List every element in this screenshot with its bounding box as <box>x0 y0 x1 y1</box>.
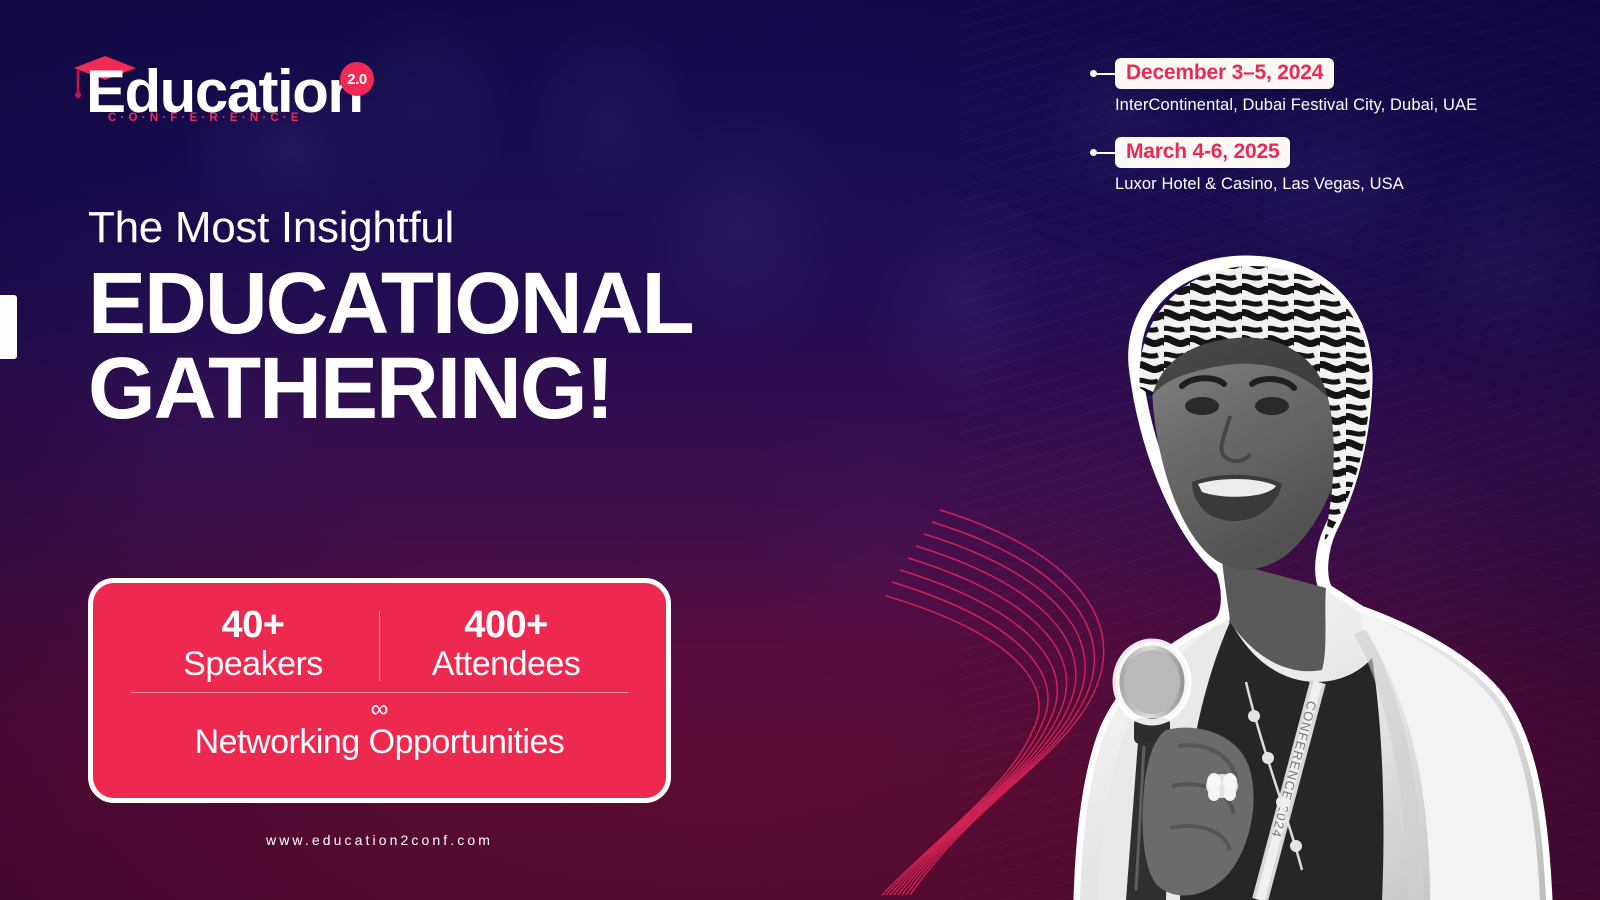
headline-line-1: EDUCATIONAL <box>88 261 693 346</box>
conference-banner: Education 2.0 C·O·N·F·E·R·E·N·C·E Decemb… <box>0 0 1600 900</box>
connector-line <box>1097 73 1115 75</box>
headline-line-2: GATHERING! <box>88 346 693 431</box>
bullet-dot-icon <box>1090 70 1097 77</box>
stats-top-row: 40+ Speakers 400+ Attendees <box>127 605 632 683</box>
headline-block: The Most Insightful EDUCATIONAL GATHERIN… <box>88 205 693 432</box>
left-accent-bar <box>0 295 17 359</box>
stats-horizontal-divider <box>131 692 628 693</box>
brand-logo[interactable]: Education 2.0 C·O·N·F·E·R·E·N·C·E <box>72 36 372 132</box>
stat-speakers: 40+ Speakers <box>127 605 379 683</box>
stat-speakers-label: Speakers <box>127 646 379 683</box>
website-url[interactable]: www.education2conf.com <box>88 832 671 848</box>
event-date-item: December 3–5, 2024 InterContinental, Dub… <box>1090 58 1510 115</box>
stat-networking: ∞ Networking Opportunities <box>127 697 632 762</box>
bullet-dot-icon <box>1090 149 1097 156</box>
logo-version-badge: 2.0 <box>340 62 374 96</box>
ring-icon <box>1206 773 1238 801</box>
headline-main: EDUCATIONAL GATHERING! <box>88 261 693 432</box>
event-dates-list: December 3–5, 2024 InterContinental, Dub… <box>1090 58 1510 216</box>
connector-line <box>1097 152 1115 154</box>
stats-card: 40+ Speakers 400+ Attendees ∞ Networking… <box>88 578 671 803</box>
stat-attendees-number: 400+ <box>380 605 632 646</box>
stat-speakers-number: 40+ <box>127 605 379 646</box>
headline-kicker: The Most Insightful <box>88 205 693 251</box>
venue-label: InterContinental, Dubai Festival City, D… <box>1115 96 1510 115</box>
date-badge: March 4-6, 2025 <box>1115 137 1290 168</box>
infinity-icon: ∞ <box>127 697 632 722</box>
speaker-photo-cutout: CONFERENCE 2024 <box>930 230 1600 900</box>
date-badge: December 3–5, 2024 <box>1115 58 1334 89</box>
event-date-item: March 4-6, 2025 Luxor Hotel & Casino, La… <box>1090 137 1510 194</box>
venue-label: Luxor Hotel & Casino, Las Vegas, USA <box>1115 175 1510 194</box>
stat-attendees-label: Attendees <box>380 646 632 683</box>
stat-networking-label: Networking Opportunities <box>127 723 632 762</box>
stat-attendees: 400+ Attendees <box>380 605 632 683</box>
logo-subtitle: C·O·N·F·E·R·E·N·C·E <box>108 112 303 124</box>
